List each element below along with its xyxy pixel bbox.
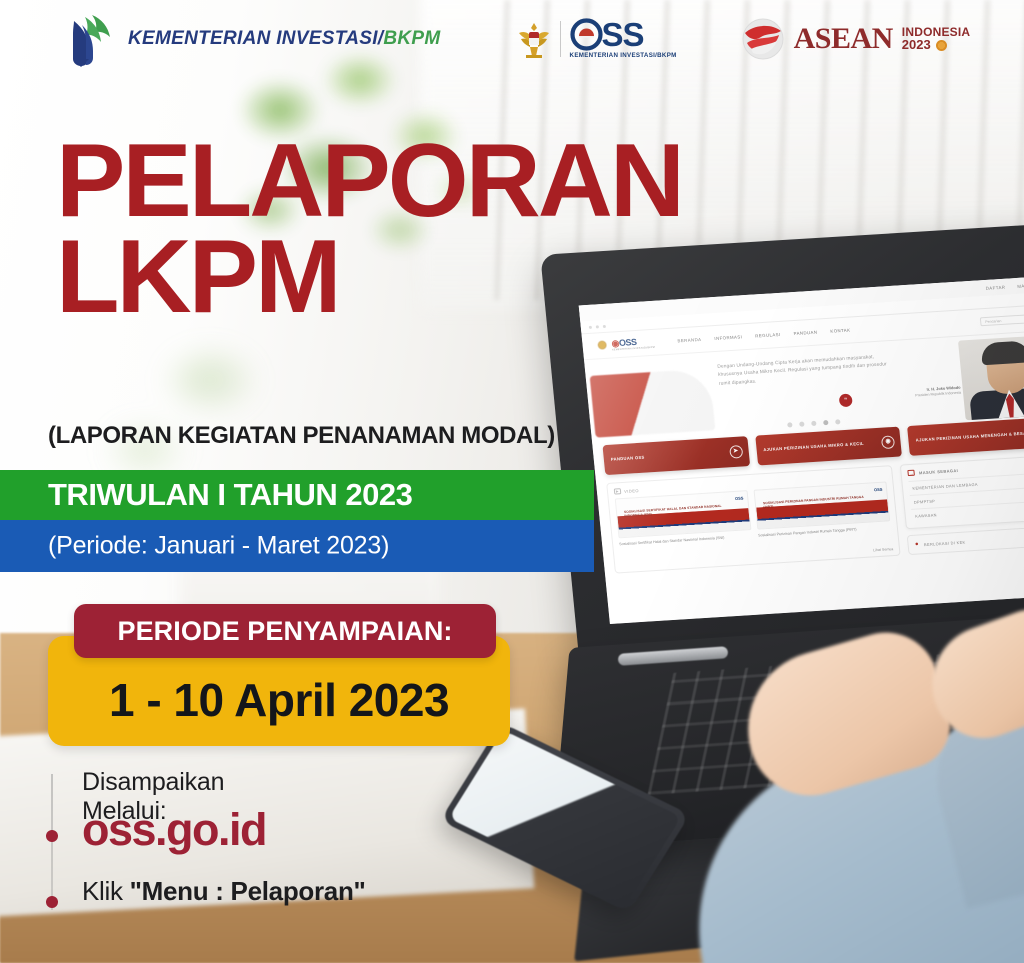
- asean-year-row: 2023: [902, 38, 970, 52]
- oss-badge-icon: ◉: [881, 435, 895, 449]
- kementerian-logo-text: KEMENTERIAN INVESTASI/BKPM: [128, 28, 441, 50]
- oss-website-url[interactable]: oss.go.id: [82, 804, 266, 856]
- location-pin-icon: ●: [915, 541, 920, 547]
- carousel-dot-icon[interactable]: [799, 422, 804, 427]
- kementerian-investasi-logo: KEMENTERIAN INVESTASI/BKPM: [62, 11, 441, 67]
- oss-watermark-icon: OSS: [874, 487, 883, 493]
- site-nav-panduan[interactable]: PANDUAN: [793, 330, 817, 336]
- site-nav-kontak[interactable]: KONTAK: [830, 328, 851, 334]
- logo-divider: [560, 21, 561, 57]
- kementerian-text-secondary: BKPM: [383, 28, 440, 49]
- indonesia-flag-graphic: [590, 368, 716, 437]
- berlokasi-kek-label: BERLOKASI DI KEK: [924, 539, 966, 547]
- submission-period-label-pill: PERIODE PENYAMPAIAN:: [74, 604, 496, 658]
- asean-indonesia-2023-logo: ASEAN INDONESIA 2023: [741, 17, 971, 61]
- play-icon: ▶: [614, 488, 622, 494]
- video-panel: ▶ VIDEO OSS SOSIALISASI SERTIFIKAT HALAL…: [606, 465, 901, 574]
- carousel-dot-icon[interactable]: [811, 421, 816, 426]
- card-perizinan-menengah-besar-label: AJUKAN PERIZINAN USAHA MENENGAH & BESAR: [916, 430, 1024, 443]
- chrome-dot-icon: [589, 325, 592, 328]
- click-instruction: Klik "Menu : Pelaporan": [82, 876, 366, 907]
- click-instruction-prefix: Klik: [82, 876, 130, 906]
- carousel-dot-icon[interactable]: [787, 422, 792, 427]
- video-thumbnail-image: OSS SOSIALISASI PERIZINAN PANGAN INDUSTR…: [754, 481, 891, 529]
- period-banner-blue: (Periode: Januari - Maret 2023): [0, 520, 594, 572]
- header-logo-bar: KEMENTERIAN INVESTASI/BKPM: [0, 0, 1024, 78]
- video-item[interactable]: OSS SOSIALISASI SERTIFIKAT HALAL DAN STA…: [615, 490, 753, 548]
- garuda-icon: [596, 340, 608, 352]
- video-thumbnail-image: OSS SOSIALISASI SERTIFIKAT HALAL DAN STA…: [615, 490, 752, 538]
- president-hair: [980, 340, 1024, 365]
- masuk-sebagai-header: → MASUK SEBAGAI: [908, 461, 1024, 476]
- subtitle-text: (LAPORAN KEGIATAN PENANAMAN MODAL): [48, 422, 555, 450]
- berlokasi-kek-box[interactable]: ● BERLOKASI DI KEK: [907, 525, 1024, 555]
- card-panduan-oss-label: PANDUAN OSS: [611, 455, 645, 463]
- masuk-sebagai-box: → MASUK SEBAGAI KEMENTERIAN DAN LEMBAGA …: [900, 455, 1024, 529]
- asean-emblem-icon: [936, 40, 947, 51]
- login-icon: →: [908, 470, 916, 476]
- asean-year-block: INDONESIA 2023: [902, 26, 970, 52]
- submission-period-label: PERIODE PENYAMPAIAN:: [117, 616, 452, 647]
- headline-line-1: PELAPORAN: [56, 134, 682, 230]
- site-logo[interactable]: ◉OSS KEMENTERIAN INVESTASI/BKPM: [596, 336, 655, 353]
- president-photo: [958, 335, 1024, 420]
- asean-year-label: 2023: [902, 38, 931, 52]
- video-item[interactable]: OSS SOSIALISASI PERIZINAN PANGAN INDUSTR…: [754, 481, 892, 539]
- site-sidebar: → MASUK SEBAGAI KEMENTERIAN DAN LEMBAGA …: [900, 455, 1024, 555]
- site-search-input[interactable]: Pencarian ⚲: [980, 313, 1024, 326]
- oss-logo: SS KEMENTERIAN INVESTASI/BKPM: [517, 18, 677, 59]
- site-nav-beranda[interactable]: BERANDA: [677, 337, 701, 343]
- bullet-dot-icon: [46, 896, 58, 908]
- period-banner-blue-text: (Periode: Januari - Maret 2023): [48, 532, 389, 561]
- quarter-banner-green-text: TRIWULAN I TAHUN 2023: [48, 477, 412, 513]
- submission-period-date: 1 - 10 April 2023: [48, 660, 510, 740]
- quote-mark-icon: ”: [839, 394, 853, 408]
- compass-icon: ➤: [729, 445, 743, 459]
- page-title: PELAPORAN LKPM: [56, 134, 682, 325]
- asean-word: ASEAN: [794, 22, 893, 56]
- site-search-placeholder: Pencarian: [985, 319, 1002, 324]
- president-title: Presiden Republik Indonesia: [915, 391, 961, 398]
- poster-root: DAFTAR MASUK ◉OSS KEME: [0, 0, 1024, 963]
- oss-word: SS: [570, 18, 677, 51]
- oss-letters-ss: SS: [602, 18, 644, 51]
- site-login-link[interactable]: MASUK: [1017, 282, 1024, 288]
- video-thumbnails: OSS SOSIALISASI SERTIFIKAT HALAL DAN STA…: [615, 481, 892, 547]
- see-all-link[interactable]: Lihat Semua: [873, 547, 894, 552]
- site-register-link[interactable]: DAFTAR: [985, 284, 1005, 290]
- oss-o-letter-icon: [570, 18, 603, 51]
- timeline-connector: [51, 774, 53, 910]
- headline-line-2: LKPM: [56, 230, 682, 326]
- carousel-dots[interactable]: [787, 419, 840, 427]
- video-section-tag: ▶ VIDEO: [614, 487, 640, 495]
- oss-website: DAFTAR MASUK ◉OSS KEME: [579, 276, 1024, 624]
- carousel-dot-active-icon[interactable]: [823, 420, 828, 425]
- masuk-sebagai-label: MASUK SEBAGAI: [919, 467, 959, 474]
- oss-wordmark: SS KEMENTERIAN INVESTASI/BKPM: [570, 18, 677, 59]
- card-perizinan-mikro-kecil-label: AJUKAN PERIZINAN USAHA MIKRO & KECIL: [763, 441, 864, 453]
- hero-quote-text: Dengan Undang-Undang Cipta Kerja akan me…: [717, 353, 899, 389]
- site-nav-regulasi[interactable]: REGULASI: [755, 332, 781, 339]
- laptop-screen: DAFTAR MASUK ◉OSS KEME: [579, 276, 1024, 624]
- carousel-dot-icon[interactable]: [835, 419, 840, 424]
- oss-watermark-icon: OSS: [735, 495, 744, 501]
- site-nav-informasi[interactable]: INFORMASI: [714, 334, 742, 341]
- click-instruction-menu: "Menu : Pelaporan": [130, 876, 366, 906]
- bullet-dot-icon: [46, 830, 58, 842]
- video-tag-label: VIDEO: [624, 488, 639, 494]
- president-caption: Ir. H. Joko Widodo Presiden Republik Ind…: [915, 385, 962, 400]
- kementerian-text-primary: KEMENTERIAN INVESTASI/: [128, 28, 383, 49]
- asean-globe-icon: [741, 17, 785, 61]
- garuda-pancasila-icon: [517, 19, 551, 59]
- bkpm-logo-icon: [62, 11, 114, 67]
- oss-subtitle: KEMENTERIAN INVESTASI/BKPM: [570, 53, 677, 59]
- quarter-banner-green: TRIWULAN I TAHUN 2023: [0, 470, 594, 520]
